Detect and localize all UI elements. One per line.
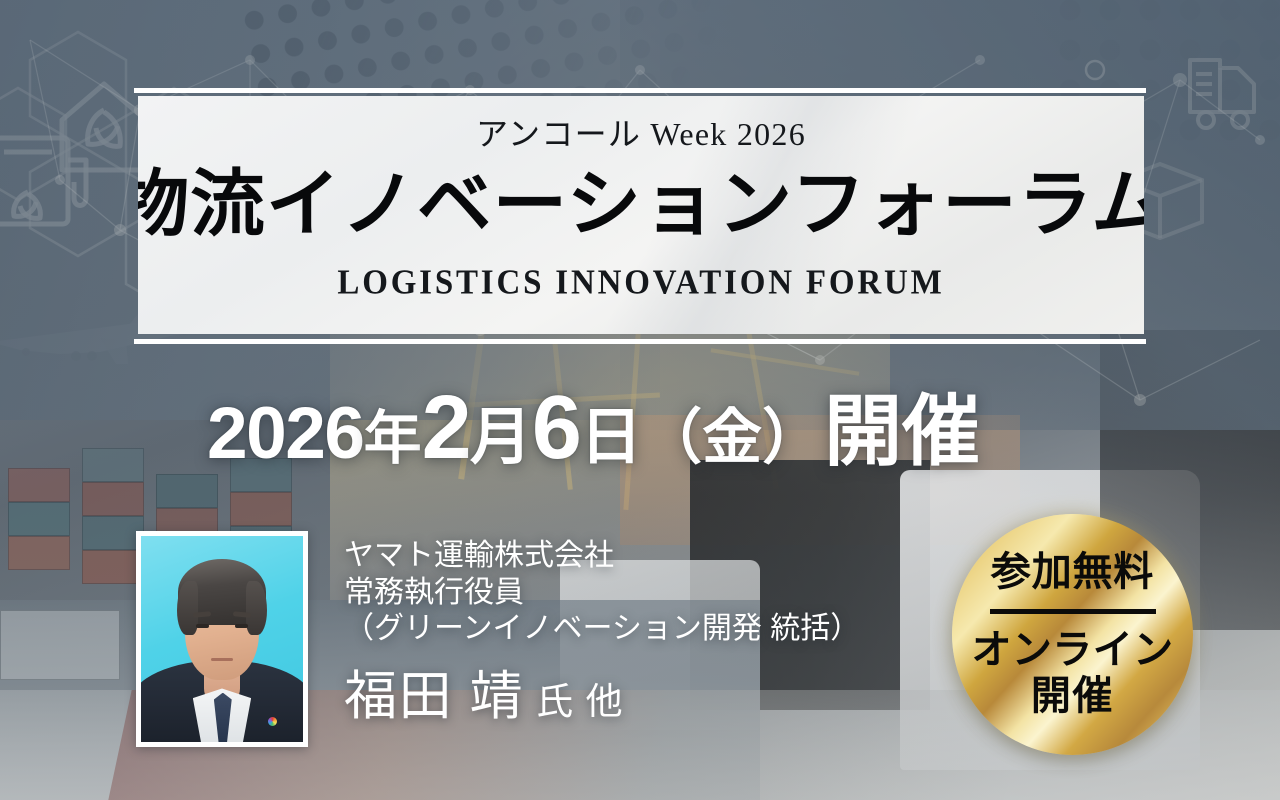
speaker-name-suffix: 氏 他 [536,671,624,725]
status-badge: 参加無料 オンライン 開催 [952,514,1193,755]
page-title: 物流イノベーションフォーラム [138,166,1144,245]
title-rule-bottom [134,339,1146,344]
badge-online-label: オンライン [972,629,1174,671]
avatar [141,536,303,742]
speaker-role: 常務執行役員 [344,575,860,612]
speaker-organization: ヤマト運輸株式会社 [344,538,860,575]
date-year-unit: 年 [364,410,422,468]
poster-canvas: アンコール Week 2026 物流イノベーションフォーラム LOGISTICS… [0,0,1280,800]
date-weekday: （金） [642,408,822,468]
speaker-info: ヤマト運輸株式会社 常務執行役員 （グリーンイノベーション開発 統括） 福田 靖… [344,538,860,730]
badge-divider [990,609,1156,614]
date-month-unit: 月 [470,407,532,469]
speaker-name: 福田 靖 [344,654,524,730]
portrait-hair-left [177,581,198,635]
sdgs-pin-icon [268,717,277,726]
speaker-name-row: 福田 靖 氏 他 [344,654,860,730]
speaker-department: （グリーンイノベーション開発 統括） [344,611,860,648]
portrait-eye-left [196,624,209,629]
date-day-unit: 日 [580,407,642,469]
title-rule-top [134,88,1146,93]
date-held-label: 開催 [824,392,980,470]
speaker-photo-frame [136,531,308,747]
title-panel: アンコール Week 2026 物流イノベーションフォーラム LOGISTICS… [138,96,1144,334]
date-year: 2026 [207,397,364,470]
badge-held-label: 開催 [1031,674,1114,718]
portrait-eye-right [235,624,248,629]
event-date: 2026 年 2 月 6 日 （金） 開催 [207,383,980,473]
event-kicker: アンコール Week 2026 [476,118,806,150]
event-title-english: LOGISTICS INNOVATION FORUM [337,266,944,301]
badge-free-label: 参加無料 [991,552,1154,592]
date-month: 2 [422,383,470,473]
date-day: 6 [532,383,580,473]
portrait-mouth [211,658,234,662]
